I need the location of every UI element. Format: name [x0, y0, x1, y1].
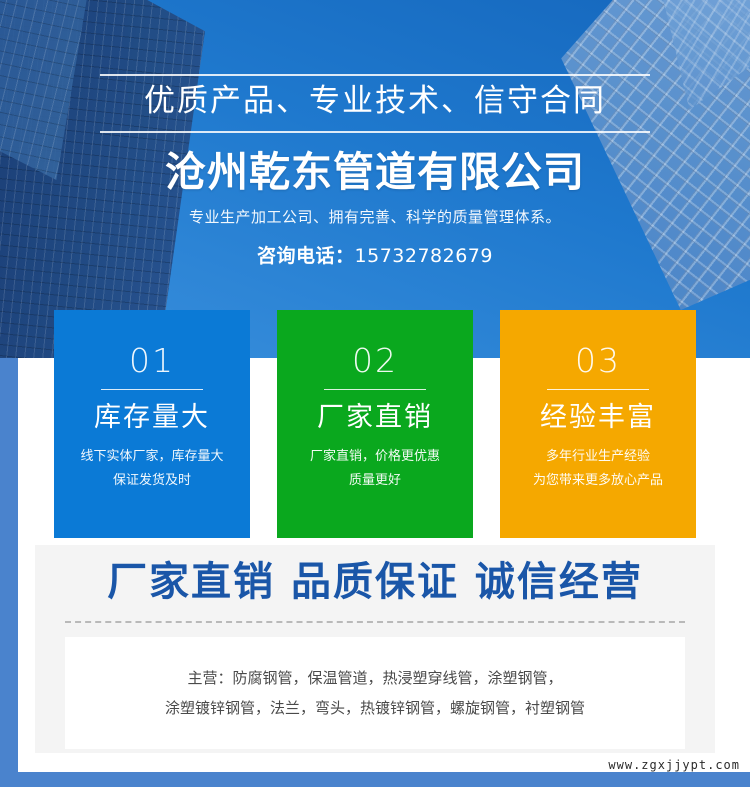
contact-phone: 咨询电话：15732782679 [257, 241, 493, 268]
feature-card-description: 厂家直销，价格更优惠 质量更好 [277, 445, 473, 493]
feature-card-divider [101, 389, 203, 390]
feature-card-desc-line1: 多年行业生产经验 [500, 445, 696, 469]
product-list: 主营：防腐钢管，保温管道，热浸塑穿线管，涂塑钢管， 涂塑镀锌钢管，法兰，弯头，热… [65, 637, 685, 749]
header-content: 优质产品、专业技术、信守合同 沧州乾东管道有限公司 专业生产加工公司、拥有完善、… [0, 0, 750, 358]
feature-card-divider [324, 389, 426, 390]
footer-bottom-accent-bar [0, 772, 750, 787]
feature-card-number: 03 [500, 344, 696, 377]
contact-phone-number: 15732782679 [355, 245, 493, 267]
product-list-line1: 主营：防腐钢管，保温管道，热浸塑穿线管，涂塑钢管， [75, 663, 675, 693]
feature-card-desc-line2: 保证发货及时 [54, 469, 250, 493]
contact-phone-label: 咨询电话： [257, 245, 355, 267]
company-name: 沧州乾东管道有限公司 [165, 149, 585, 196]
slogan-block: 优质产品、专业技术、信守合同 [100, 74, 650, 133]
feature-card-desc-line2: 质量更好 [277, 469, 473, 493]
feature-card-number: 02 [277, 344, 473, 377]
feature-card-divider [547, 389, 649, 390]
feature-card-desc-line2: 为您带来更多放心产品 [500, 469, 696, 493]
feature-card-title: 库存量大 [54, 402, 250, 434]
feature-card-title: 经验丰富 [500, 402, 696, 434]
feature-card-03[interactable]: 03 经验丰富 多年行业生产经验 为您带来更多放心产品 [500, 310, 696, 538]
feature-card-01[interactable]: 01 库存量大 线下实体厂家，库存量大 保证发货及时 [54, 310, 250, 538]
banner-header: 优质产品、专业技术、信守合同 沧州乾东管道有限公司 专业生产加工公司、拥有完善、… [0, 0, 750, 358]
feature-card-02[interactable]: 02 厂家直销 厂家直销，价格更优惠 质量更好 [277, 310, 473, 538]
footer-dashed-divider [65, 621, 685, 623]
footer-headline: 厂家直销 品质保证 诚信经营 [35, 559, 715, 605]
site-watermark: www.zgxjjypt.com [608, 758, 740, 772]
feature-card-desc-line1: 厂家直销，价格更优惠 [277, 445, 473, 469]
slogan-text: 优质产品、专业技术、信守合同 [100, 82, 650, 121]
footer-panel: 厂家直销 品质保证 诚信经营 主营：防腐钢管，保温管道，热浸塑穿线管，涂塑钢管，… [35, 545, 715, 753]
feature-card-title: 厂家直销 [277, 402, 473, 434]
feature-card-description: 线下实体厂家，库存量大 保证发货及时 [54, 445, 250, 493]
feature-card-desc-line1: 线下实体厂家，库存量大 [54, 445, 250, 469]
product-list-line2: 涂塑镀锌钢管，法兰，弯头，热镀锌钢管，螺旋钢管，衬塑钢管 [75, 693, 675, 723]
feature-card-list: 01 库存量大 线下实体厂家，库存量大 保证发货及时 02 厂家直销 厂家直销，… [0, 310, 750, 538]
company-banner: 优质产品、专业技术、信守合同 沧州乾东管道有限公司 专业生产加工公司、拥有完善、… [0, 0, 750, 787]
feature-card-number: 01 [54, 344, 250, 377]
feature-card-description: 多年行业生产经验 为您带来更多放心产品 [500, 445, 696, 493]
company-description: 专业生产加工公司、拥有完善、科学的质量管理体系。 [189, 206, 561, 227]
